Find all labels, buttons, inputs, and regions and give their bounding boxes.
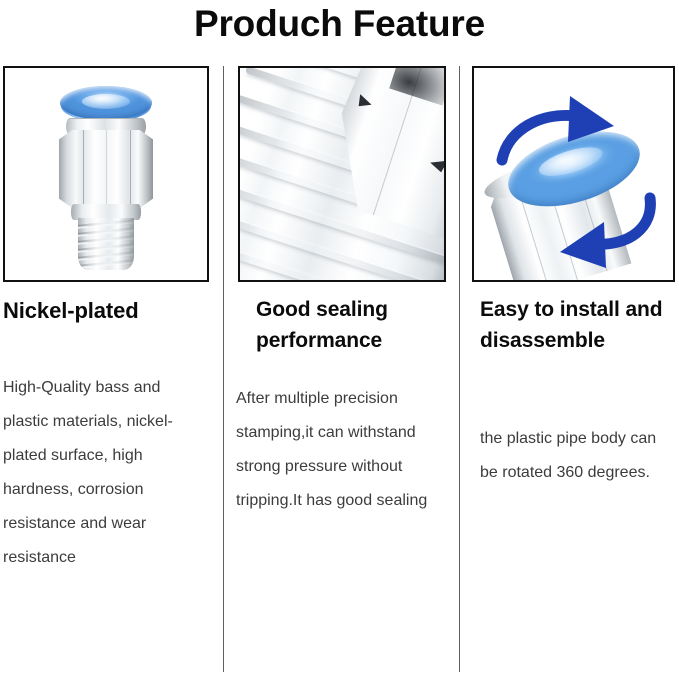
hex-edge-icon: [130, 130, 131, 208]
feature-column-good-sealing-performance: Good sealing performance After multiple …: [238, 66, 446, 518]
thread-ring-icon: [78, 235, 134, 245]
hex-body-icon: [59, 130, 153, 208]
feature-heading-nickel-plated: Nickel-plated: [3, 295, 209, 326]
hex-edge-icon: [106, 130, 107, 208]
feature-heading-easy-to-install-and-disassemble: Easy to install and disassemble: [480, 294, 675, 356]
thread-ring-icon: [78, 227, 134, 237]
feature-image-nickel-plated: [3, 66, 209, 282]
thread-ring-icon: [78, 259, 134, 269]
thread-ring-icon: [78, 219, 134, 229]
feature-image-good-sealing-performance: [238, 66, 446, 282]
thread-macro-illustration: [240, 68, 444, 280]
feature-body-nickel-plated: High-Quality bass and plastic materials,…: [3, 371, 209, 575]
thread-ring-icon: [78, 243, 134, 253]
rotating-fitting-illustration: [482, 96, 667, 276]
threaded-nipple-icon: [78, 218, 134, 270]
feature-column-nickel-plated: Nickel-plated High-Quality bass and plas…: [3, 66, 209, 575]
hex-edge-icon: [83, 130, 84, 208]
feature-body-easy-to-install-and-disassemble: the plastic pipe body can be rotated 360…: [480, 422, 675, 490]
feature-heading-good-sealing-performance: Good sealing performance: [256, 294, 446, 356]
rotation-arrow-icon: [478, 82, 675, 282]
feature-image-easy-to-install-and-disassemble: [472, 66, 675, 282]
pneumatic-fitting-illustration: [52, 78, 160, 274]
page-title: Produch Feature: [0, 0, 679, 52]
feature-column-easy-to-install-and-disassemble: Easy to install and disassemble the plas…: [472, 66, 675, 490]
feature-body-good-sealing-performance: After multiple precision stamping,it can…: [236, 382, 446, 518]
blue-release-cap-icon: [60, 86, 152, 120]
thread-ring-icon: [78, 251, 134, 261]
column-divider-left: [223, 66, 224, 672]
column-divider-right: [459, 66, 460, 672]
